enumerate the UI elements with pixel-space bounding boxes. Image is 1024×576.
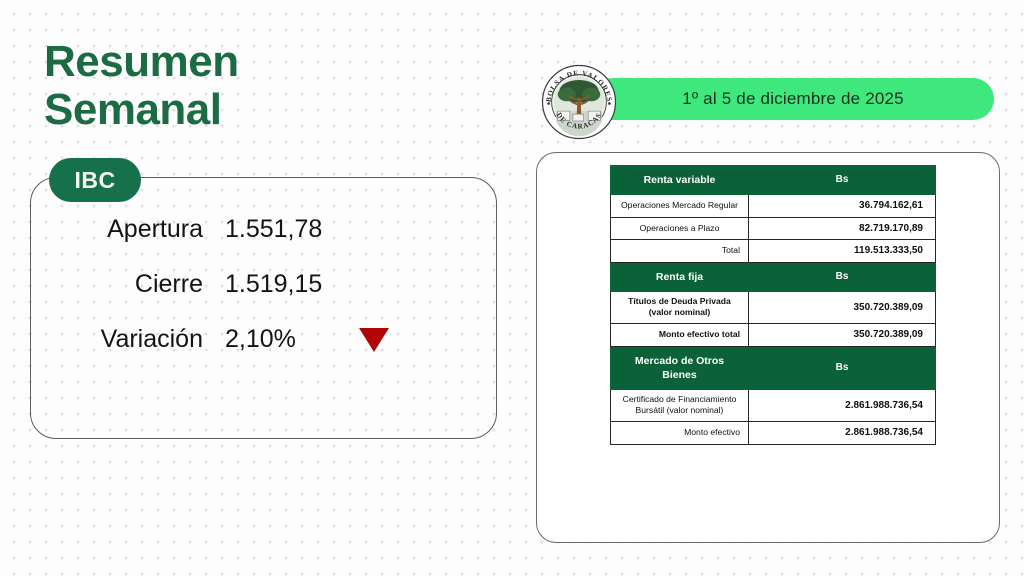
- bolsa-de-valores-seal-icon: BOLSA DE VALORES DE CARACAS: [541, 64, 617, 140]
- quote-value: 1.551,78: [225, 215, 345, 244]
- row-value: 2.861.988.736,54: [749, 422, 936, 445]
- row-label: Operaciones a Plazo: [611, 217, 749, 240]
- quote-value: 2,10%: [225, 325, 345, 354]
- table-row: Operaciones a Plazo 82.719.170,89: [611, 217, 936, 240]
- row-value: 82.719.170,89: [749, 217, 936, 240]
- market-summary-table: Renta variable Bs Operaciones Mercado Re…: [610, 165, 936, 445]
- section-title: Renta fija: [611, 262, 749, 291]
- quote-value: 1.519,15: [225, 270, 345, 299]
- quote-label: Variación: [30, 325, 225, 354]
- quote-row-apertura: Apertura 1.551,78: [30, 215, 497, 244]
- currency-header: Bs: [749, 262, 936, 291]
- page-title: Resumen Semanal: [44, 38, 239, 133]
- table-row: Total 119.513.333,50: [611, 240, 936, 263]
- triangle-down-red-icon: [359, 328, 389, 352]
- quote-row-cierre: Cierre 1.519,15: [30, 270, 497, 299]
- row-value: 119.513.333,50: [749, 240, 936, 263]
- row-value: 350.720.389,09: [749, 291, 936, 323]
- currency-header: Bs: [749, 346, 936, 389]
- table-section-header-renta-fija: Renta fija Bs: [611, 262, 936, 291]
- quote-row-variacion: Variación 2,10%: [30, 325, 497, 354]
- row-label: Total: [611, 240, 749, 263]
- section-title: Renta variable: [611, 166, 749, 195]
- row-label: Títulos de Deuda Privada (valor nominal): [611, 291, 749, 323]
- title-line-2: Semanal: [44, 86, 239, 134]
- currency-header: Bs: [749, 166, 936, 195]
- table-section-header-otros-bienes: Mercado de Otros Bienes Bs: [611, 346, 936, 389]
- table-row: Monto efectivo 2.861.988.736,54: [611, 422, 936, 445]
- quote-arrow-slot: [345, 328, 405, 352]
- table-row: Operaciones Mercado Regular 36.794.162,6…: [611, 195, 936, 218]
- table-row: Certificado de Financiamiento Bursátil (…: [611, 389, 936, 421]
- row-label: Operaciones Mercado Regular: [611, 195, 749, 218]
- date-range-banner: 1º al 5 de diciembre de 2025: [592, 78, 994, 120]
- row-label: Monto efectivo: [611, 422, 749, 445]
- ibc-badge: IBC: [49, 158, 141, 202]
- section-title: Mercado de Otros Bienes: [611, 346, 749, 389]
- row-value: 2.861.988.736,54: [749, 389, 936, 421]
- row-value: 36.794.162,61: [749, 195, 936, 218]
- table-row: Títulos de Deuda Privada (valor nominal)…: [611, 291, 936, 323]
- row-label: Certificado de Financiamiento Bursátil (…: [611, 389, 749, 421]
- quote-label: Apertura: [30, 215, 225, 244]
- quote-label: Cierre: [30, 270, 225, 299]
- ibc-quote-list: Apertura 1.551,78 Cierre 1.519,15 Variac…: [30, 215, 497, 354]
- title-line-1: Resumen: [44, 38, 239, 86]
- table-section-header-renta-variable: Renta variable Bs: [611, 166, 936, 195]
- row-value: 350.720.389,09: [749, 324, 936, 347]
- row-label: Monto efectivo total: [611, 324, 749, 347]
- table-row: Monto efectivo total 350.720.389,09: [611, 324, 936, 347]
